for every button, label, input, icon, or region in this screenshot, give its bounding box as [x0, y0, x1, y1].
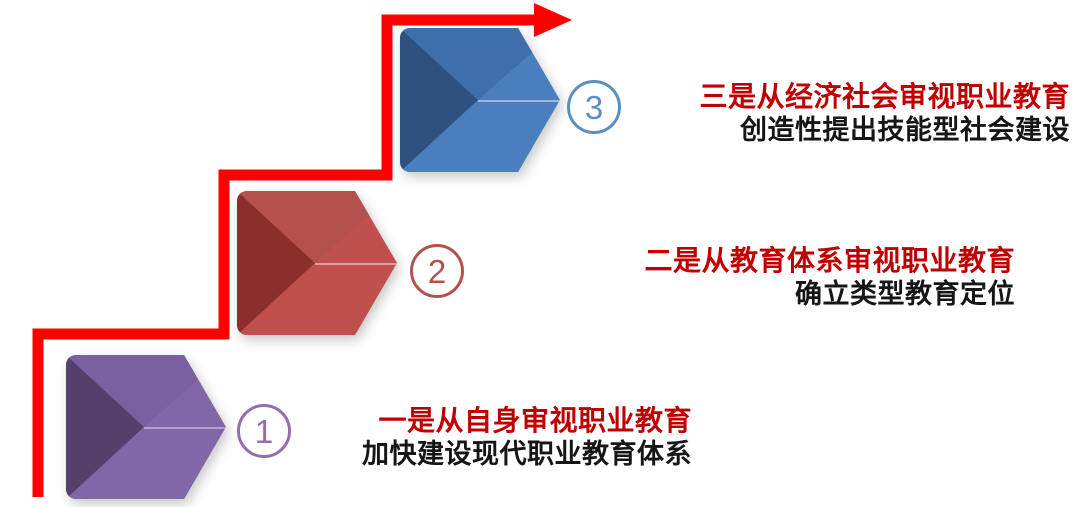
- slide-canvas: 3 三是从经济社会审视职业教育 创造性提出技能型社会建设 2 二是从教育体系审视…: [0, 0, 1080, 507]
- step-number-circle-2: 2: [410, 244, 464, 298]
- step-number-3: 3: [585, 91, 603, 124]
- step-number-2: 2: [428, 255, 446, 288]
- step-text-2: 二是从教育体系审视职业教育 确立类型教育定位: [480, 244, 1015, 311]
- step-number-circle-1: 1: [237, 404, 291, 458]
- step-number-circle-3: 3: [567, 80, 621, 134]
- step-title-2: 二是从教育体系审视职业教育: [480, 244, 1015, 278]
- step-title-3: 三是从经济社会审视职业教育: [640, 80, 1070, 114]
- step-text-3: 三是从经济社会审视职业教育 创造性提出技能型社会建设: [640, 80, 1070, 147]
- step-subtitle-2: 确立类型教育定位: [480, 278, 1015, 311]
- chevron-block-1: [66, 355, 226, 499]
- step-subtitle-1: 加快建设现代职业教育体系: [300, 438, 692, 471]
- chevron-block-3: [400, 28, 560, 172]
- step-text-1: 一是从自身审视职业教育 加快建设现代职业教育体系: [300, 404, 692, 471]
- chevron-block-2: [237, 191, 397, 335]
- step-title-1: 一是从自身审视职业教育: [300, 404, 692, 438]
- step-subtitle-3: 创造性提出技能型社会建设: [640, 114, 1070, 147]
- step-number-1: 1: [255, 415, 273, 448]
